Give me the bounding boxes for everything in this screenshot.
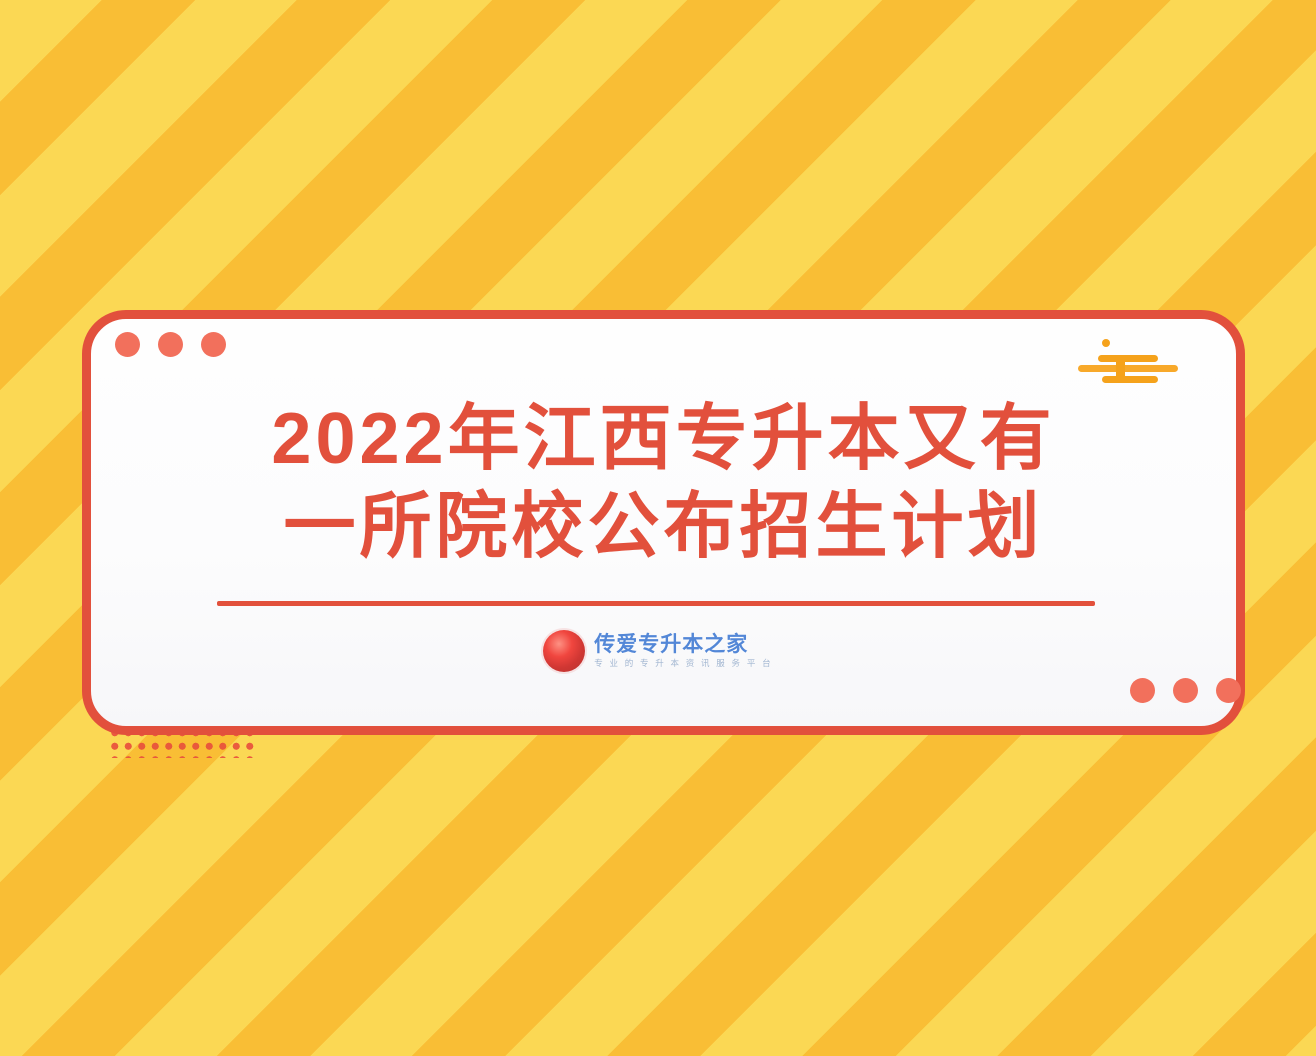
brand-slogan: 专 业 的 专 升 本 资 讯 服 务 平 台 bbox=[594, 659, 773, 668]
dot bbox=[201, 332, 226, 357]
dot bbox=[158, 332, 183, 357]
stacked-bars-icon bbox=[1076, 338, 1180, 388]
title-line-2: 一所院校公布招生计划 bbox=[82, 483, 1245, 571]
three-dots-icon-bottom-right bbox=[1130, 678, 1241, 703]
brand-watermark: 传爱专升本之家 专 业 的 专 升 本 资 讯 服 务 平 台 bbox=[0, 630, 1316, 672]
dot bbox=[1173, 678, 1198, 703]
three-dots-icon-top-left bbox=[115, 332, 226, 357]
dot bbox=[1216, 678, 1241, 703]
brand-text: 传爱专升本之家 专 业 的 专 升 本 资 讯 服 务 平 台 bbox=[594, 634, 773, 668]
page-title: 2022年江西专升本又有 一所院校公布招生计划 bbox=[82, 395, 1245, 571]
brand-name: 传爱专升本之家 bbox=[594, 634, 773, 655]
title-line-1: 2022年江西专升本又有 bbox=[82, 395, 1245, 483]
title-divider bbox=[217, 601, 1095, 606]
red-sphere-logo-icon bbox=[543, 630, 585, 672]
poster-canvas: 2022年江西专升本又有 一所院校公布招生计划 传爱专升本之家 专 业 的 专 … bbox=[0, 0, 1316, 1056]
dot bbox=[1130, 678, 1155, 703]
dot bbox=[115, 332, 140, 357]
